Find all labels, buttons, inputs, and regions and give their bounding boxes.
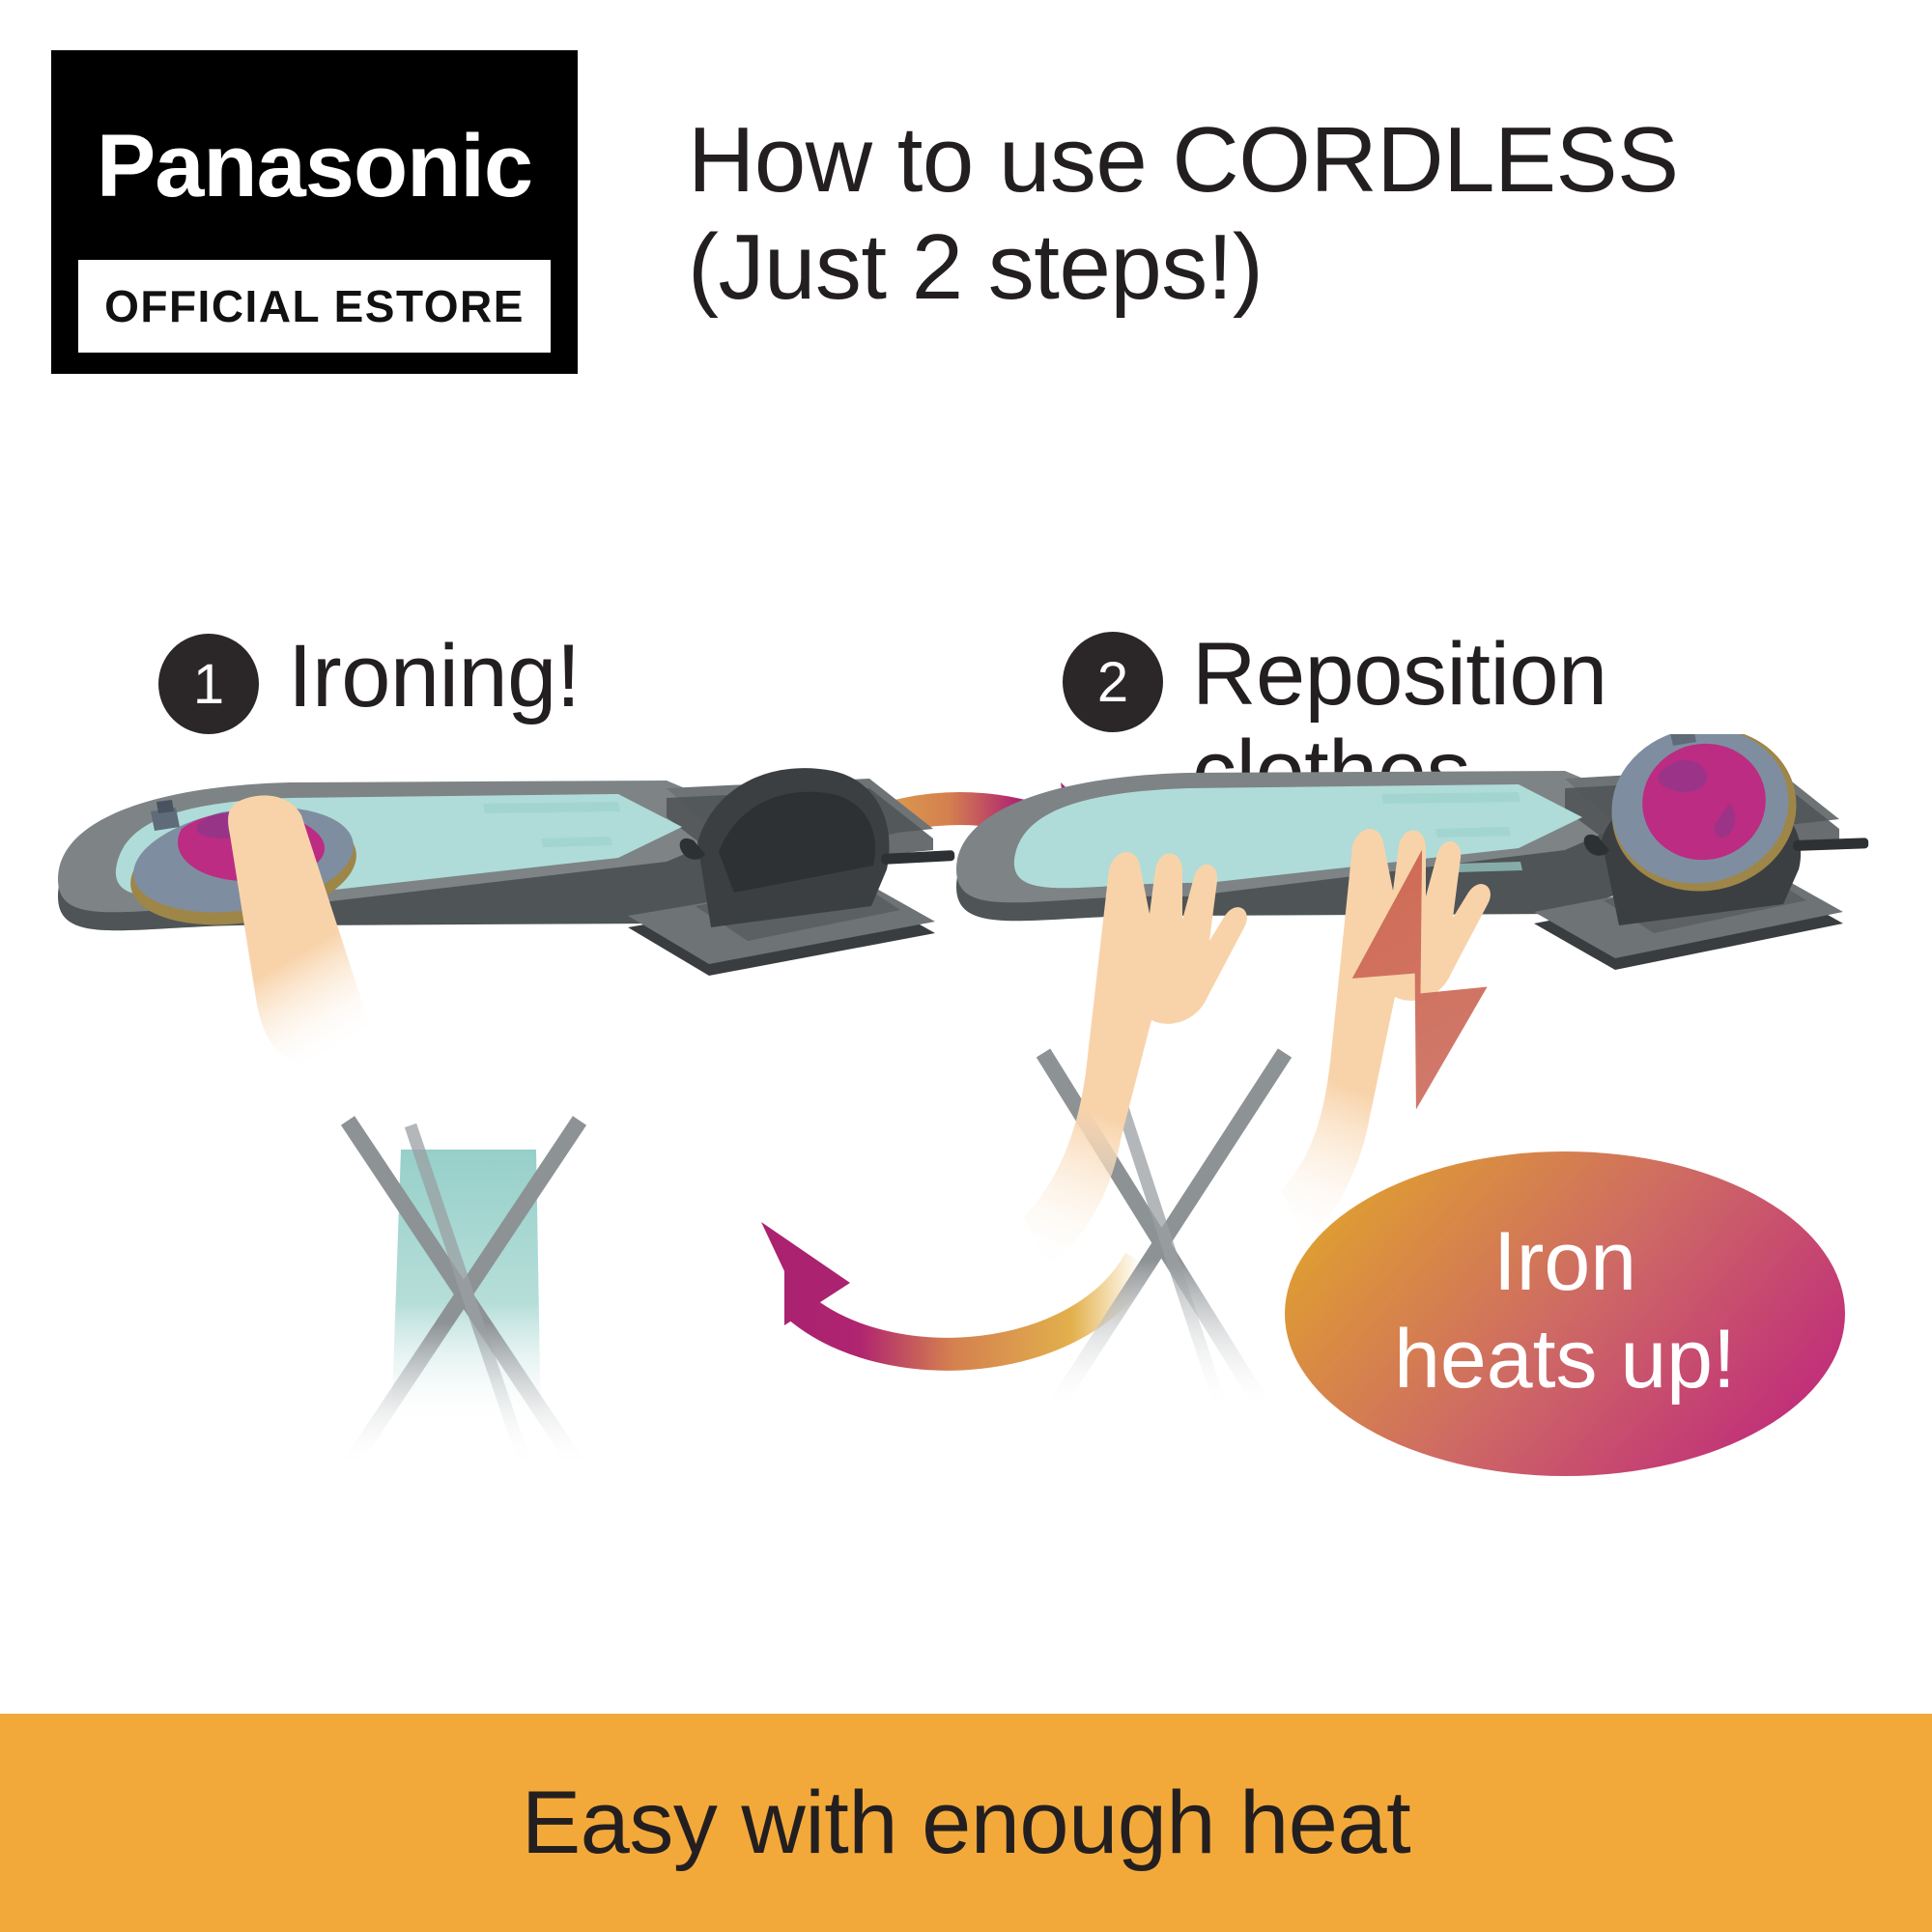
step-1: 1 Ironing!	[158, 628, 581, 734]
illustration-group: Iron heats up!	[0, 734, 1932, 1710]
headline-line-1: How to use CORDLESS	[688, 106, 1876, 213]
official-estore-plate: OFFICIAL ESTORE	[78, 260, 551, 353]
callout-bubble: Iron heats up!	[1285, 1151, 1845, 1476]
step-2-label-line-1: Reposition	[1192, 626, 1607, 724]
bottom-banner: Easy with enough heat	[0, 1714, 1932, 1932]
headline-line-2: (Just 2 steps!)	[688, 213, 1876, 321]
arrow-back-bottom-icon	[761, 1222, 1140, 1354]
brand-wordmark: Panasonic	[51, 122, 578, 211]
step-1-label-line-1: Ironing!	[288, 628, 581, 725]
official-estore-label: OFFICIAL ESTORE	[104, 280, 525, 332]
callout-line-1: Iron	[1493, 1215, 1636, 1308]
callout-line-2: heats up!	[1394, 1313, 1736, 1406]
step-2-number-badge: 2	[1063, 632, 1163, 732]
poster-canvas: Panasonic OFFICIAL ESTORE How to use COR…	[0, 0, 1932, 1932]
step-1-label: Ironing!	[288, 628, 581, 725]
panasonic-logo: Panasonic OFFICIAL ESTORE	[51, 50, 578, 374]
banner-text: Easy with enough heat	[522, 1773, 1410, 1874]
illustration-ironing-board-1	[58, 768, 954, 1468]
step-1-number-badge: 1	[158, 634, 259, 734]
page-title: How to use CORDLESS (Just 2 steps!)	[688, 106, 1876, 322]
